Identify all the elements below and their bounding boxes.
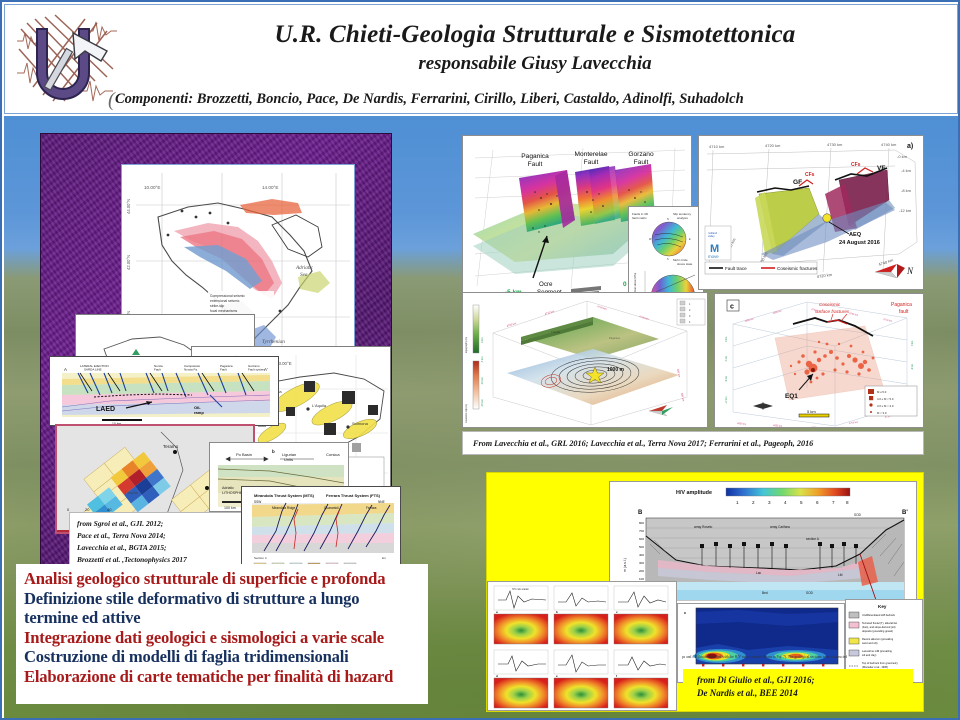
svg-text:Fault: Fault: [528, 161, 543, 168]
svg-text:Sulmona: Sulmona: [352, 421, 369, 426]
svg-text:3: 3: [768, 500, 771, 505]
svg-text:Recent alluvium (prevailing: Recent alluvium (prevailing: [862, 637, 894, 641]
svg-text:Fault: Fault: [220, 368, 227, 372]
svg-text:-15 km: -15 km: [480, 399, 484, 407]
svg-text:CFs: CFs: [805, 172, 815, 178]
svg-text:EQ1: EQ1: [785, 393, 798, 400]
citation-box-middle: From Lavecchia et al., GRL 2016; Lavecch…: [462, 431, 924, 455]
svg-text:Ocre: Ocre: [539, 281, 553, 288]
svg-text:array Carifano: array Carifano: [770, 525, 790, 529]
svg-text:-0 km: -0 km: [897, 154, 908, 159]
svg-text:-6 km: -6 km: [911, 364, 914, 370]
svg-text:CFs: CFs: [851, 162, 861, 168]
objectives-list: Analisi geologico strutturale di superfi…: [16, 564, 428, 704]
svg-text:-5 km: -5 km: [480, 357, 484, 363]
svg-text:Monterelae: Monterelae: [575, 151, 608, 158]
svg-text:Ferrara Thrust System (FTS): Ferrara Thrust System (FTS): [326, 493, 381, 498]
svg-text:d: d: [496, 674, 498, 678]
bullet-item-4: Costruzione di modelli di faglia tridime…: [24, 647, 420, 667]
svg-text:N: N: [667, 218, 669, 221]
svg-text:m (a.s.l.): m (a.s.l.): [623, 558, 627, 572]
svg-text:2: 2: [752, 500, 755, 505]
svg-text:Teramo: Teramo: [163, 444, 179, 449]
svg-text:sand and silt): sand and silt): [862, 641, 878, 645]
svg-text:AEQ: AEQ: [849, 232, 862, 238]
svg-text:b: b: [556, 610, 558, 614]
bottom-right-figure-panel: H/V amplitude 123 456 78 B B': [486, 472, 924, 712]
svg-text:5 km: 5 km: [807, 409, 816, 414]
svg-text:Fault: Fault: [584, 159, 599, 166]
bullet-item-5: Elaborazione di carte tematiche per fina…: [24, 667, 420, 687]
svg-text:Po Basin: Po Basin: [236, 452, 252, 457]
svg-text:a): a): [907, 143, 913, 150]
svg-text:4700 km: 4700 km: [811, 426, 820, 428]
page-subtitle: responsabile Giusy Lavecchia: [125, 53, 945, 75]
svg-text:shear stress (MPa): shear stress (MPa): [634, 273, 637, 293]
components-line: Componenti: Brozzetti, Boncio, Pace, De …: [115, 91, 958, 108]
university-u-logo-icon: [15, 11, 119, 111]
svg-text:A: A: [64, 367, 67, 372]
svg-text:section A: section A: [806, 537, 820, 541]
svg-text:Tyrrhenian: Tyrrhenian: [262, 339, 285, 345]
bullet-item-1: Analisi geologico strutturale di superfi…: [24, 569, 420, 589]
svg-text:1: 1: [736, 500, 739, 505]
svg-text:-8 km: -8 km: [725, 376, 728, 382]
svg-text:300: 300: [639, 561, 644, 565]
svg-text:NNE: NNE: [378, 500, 385, 504]
svg-text:H/V ratio station: H/V ratio station: [512, 588, 530, 591]
svg-text:0 km: 0 km: [725, 337, 728, 342]
svg-text:SOD: SOD: [806, 591, 814, 595]
svg-text:4720 km: 4720 km: [765, 143, 781, 148]
svg-text:-4 km: -4 km: [901, 168, 912, 173]
citation-box-left: from Sgroi et al., GJI. 2012; Pace et al…: [69, 512, 259, 570]
svg-text:Lfd: Lfd: [838, 573, 843, 577]
svg-text:focal mechanisms: focal mechanisms: [210, 309, 237, 313]
svg-text:Ferrara: Ferrara: [366, 506, 377, 510]
svg-text:Fault system: Fault system: [248, 368, 266, 372]
svg-text:3.0 ≤ M < 4.0: 3.0 ≤ M < 4.0: [877, 404, 894, 408]
svg-text:c: c: [730, 304, 734, 311]
svg-text:SSW: SSW: [254, 500, 261, 504]
svg-text:Gorzano: Gorzano: [628, 151, 654, 158]
presentation-slide: U.R. Chieti-Geologia Strutturale e Sismo…: [0, 0, 960, 720]
svg-text:move: move: [708, 254, 719, 259]
svg-text:topography (m): topography (m): [465, 337, 468, 353]
citation-text-middle: From Lavecchia et al., GRL 2016; Lavecch…: [473, 439, 813, 448]
citation-box-yellow: from Di Giulio et al., GJI 2016; De Nard…: [683, 669, 913, 709]
svg-text:0 km: 0 km: [911, 341, 914, 346]
svg-text:500: 500: [639, 545, 644, 549]
svg-text:Norcia Fa.: Norcia Fa.: [184, 368, 198, 372]
svg-text:44.00°N: 44.00°N: [126, 199, 131, 214]
svg-text:6: 6: [816, 500, 819, 505]
svg-text:Lac: Lac: [756, 571, 762, 575]
svg-text:M ≥ 5.0: M ≥ 5.0: [877, 390, 887, 394]
svg-text:ramp: ramp: [194, 410, 204, 415]
svg-text:Fault trace: Fault trace: [725, 266, 747, 271]
svg-text:fault: fault: [899, 309, 909, 315]
svg-text:4.0 ≤ M < 5.0: 4.0 ≤ M < 5.0: [877, 397, 894, 401]
svg-text:400: 400: [639, 553, 644, 557]
svg-text:valley: valley: [708, 234, 715, 238]
svg-text:extensional seismic: extensional seismic: [210, 299, 240, 303]
svg-text:4710 km: 4710 km: [709, 144, 725, 149]
svg-text:100 km: 100 km: [224, 506, 236, 510]
svg-text:Undifferentiated stiff bedrock: Undifferentiated stiff bedrock: [862, 613, 896, 617]
svg-text:km: km: [382, 556, 387, 560]
svg-text:Paganica: Paganica: [891, 302, 912, 308]
svg-text:0 km: 0 km: [480, 337, 484, 343]
citation-text-yellow: from Di Giulio et al., GJI 2016; De Nard…: [697, 674, 899, 700]
svg-text:8: 8: [846, 500, 849, 505]
svg-text:Adriatic: Adriatic: [295, 265, 314, 271]
figure-slip-tendency-stereonet: Faults in 3Dfault matrix Slip tendencyan…: [628, 206, 704, 306]
svg-text:Coseismic fractures: Coseismic fractures: [777, 266, 818, 271]
svg-text:M < 3.0: M < 3.0: [877, 411, 887, 415]
figure-footnote: ps and AR (bottom) plotted with the H/V …: [682, 655, 922, 659]
svg-text:10.00°E: 10.00°E: [144, 185, 160, 190]
svg-text:analysis: analysis: [677, 216, 688, 220]
svg-text:Top of bedrock from gravimetry: Top of bedrock from gravimetry: [862, 661, 898, 665]
svg-text:strike-slip: strike-slip: [210, 304, 224, 308]
paren-decoration: (: [108, 89, 115, 112]
svg-text:b: b: [272, 449, 275, 454]
svg-text:24 August 2016: 24 August 2016: [839, 240, 880, 246]
svg-text:Sea: Sea: [300, 272, 308, 278]
figure-panel-a-3d-fault-geometry: GFVF CFsCFs AEQ24 August 2016 4710 km472…: [698, 135, 924, 290]
svg-text:14.00°E: 14.00°E: [262, 185, 278, 190]
svg-text:Paganica: Paganica: [609, 336, 620, 340]
svg-text:42.00°N: 42.00°N: [126, 255, 131, 270]
svg-text:-12 km: -12 km: [899, 208, 912, 213]
svg-text:GF: GF: [793, 179, 802, 186]
figure-crustal-cross-section-laed: LAED OIL ramp A A' LATERAL EJECTION SARD…: [49, 356, 279, 426]
svg-text:LAED: LAED: [96, 406, 115, 413]
svg-text:B': B': [902, 510, 908, 516]
svg-text:coseismic slip (m): coseismic slip (m): [465, 404, 468, 423]
svg-text:stress state: stress state: [677, 262, 693, 266]
slide-header: U.R. Chieti-Geologia Strutturale e Sismo…: [4, 4, 958, 114]
svg-text:N: N: [906, 266, 914, 276]
svg-text:(Fan), and slope-derived (sd): (Fan), and slope-derived (sd): [862, 625, 896, 629]
title-block: U.R. Chieti-Geologia Strutturale e Sismo…: [125, 21, 945, 75]
svg-text:Lacustrine infill (prevailing: Lacustrine infill (prevailing: [862, 649, 892, 653]
figure-3d-coseismic-slip-contours: L'AquilaPaganica 1000 m: [462, 292, 708, 428]
svg-text:4740 km: 4740 km: [881, 142, 897, 147]
figure-hv-ratio-grid: H/V ratio station a: [487, 581, 677, 711]
svg-text:L'Aquila: L'Aquila: [312, 403, 327, 408]
svg-text:Compressional seismic: Compressional seismic: [210, 294, 245, 298]
svg-text:200: 200: [639, 569, 644, 573]
svg-text:4730 km: 4730 km: [827, 142, 843, 147]
svg-text:SARDA LINE: SARDA LINE: [84, 368, 102, 372]
svg-text:Adriatic: Adriatic: [222, 486, 234, 490]
svg-text:Section 4: Section 4: [254, 556, 267, 560]
svg-text:Quarantoli: Quarantoli: [324, 506, 339, 510]
slide-body: Adriatic Sea Tyrrhenian Sea 10.00°E 14.0…: [4, 116, 958, 718]
svg-text:-4 km: -4 km: [725, 356, 728, 362]
svg-text:600: 600: [639, 537, 644, 541]
svg-text:4: 4: [784, 500, 787, 505]
svg-text:Units: Units: [284, 457, 293, 462]
svg-text:Terraced fluvial (T), alluvial: Terraced fluvial (T), alluvial fan: [862, 621, 898, 625]
svg-text:-10 km: -10 km: [480, 377, 484, 385]
svg-text:L'Aquila: L'Aquila: [551, 330, 561, 334]
svg-text:B: B: [638, 510, 643, 516]
bullet-item-3: Integrazione dati geologici e sismologic…: [24, 628, 420, 648]
svg-text:1000 m: 1000 m: [607, 367, 625, 373]
citation-text-left: from Sgroi et al., GJI. 2012; Pace et al…: [77, 518, 251, 566]
svg-text:Fault: Fault: [634, 159, 649, 166]
svg-text:Coseismic: Coseismic: [819, 302, 841, 307]
svg-text:7: 7: [832, 500, 835, 505]
svg-text:f: f: [616, 674, 617, 678]
svg-text:Bed: Bed: [762, 591, 768, 595]
svg-text:fault matrix: fault matrix: [632, 216, 647, 220]
svg-text:-12 km: -12 km: [725, 397, 728, 404]
svg-text:-8 km: -8 km: [901, 188, 912, 193]
svg-text:5: 5: [800, 500, 803, 505]
svg-text:Key: Key: [878, 604, 887, 609]
svg-text:Corsica: Corsica: [326, 452, 340, 457]
svg-text:Paganica: Paganica: [521, 153, 549, 160]
svg-text:H/V amplitude: H/V amplitude: [676, 490, 712, 496]
svg-text:SOD: SOD: [854, 513, 862, 517]
svg-text:Fault: Fault: [154, 368, 161, 372]
svg-text:deposits (prevailing gravel): deposits (prevailing gravel): [862, 629, 893, 633]
svg-text:L'Aquila: L'Aquila: [125, 491, 138, 495]
svg-text:array Roseto: array Roseto: [694, 525, 712, 529]
svg-text:VF: VF: [877, 165, 885, 172]
figure-thrust-systems-section: Mirandola Thrust System (MTS) Ferrara Th…: [241, 486, 401, 572]
figure-panel-c-aftershock-cloud: EQ1 Coseismicsurface fractures Paganicaf…: [714, 293, 924, 428]
svg-text:Mirandola Ridge: Mirandola Ridge: [272, 506, 295, 510]
bullet-item-2: Definizione stile deformativo di struttu…: [24, 589, 420, 628]
svg-text:800: 800: [639, 521, 644, 525]
svg-text:Mirandola Thrust System (MTS): Mirandola Thrust System (MTS): [254, 493, 315, 498]
svg-text:700: 700: [639, 529, 644, 533]
svg-text:4695 km: 4695 km: [773, 424, 782, 428]
page-title: U.R. Chieti-Geologia Strutturale e Sismo…: [125, 21, 945, 49]
